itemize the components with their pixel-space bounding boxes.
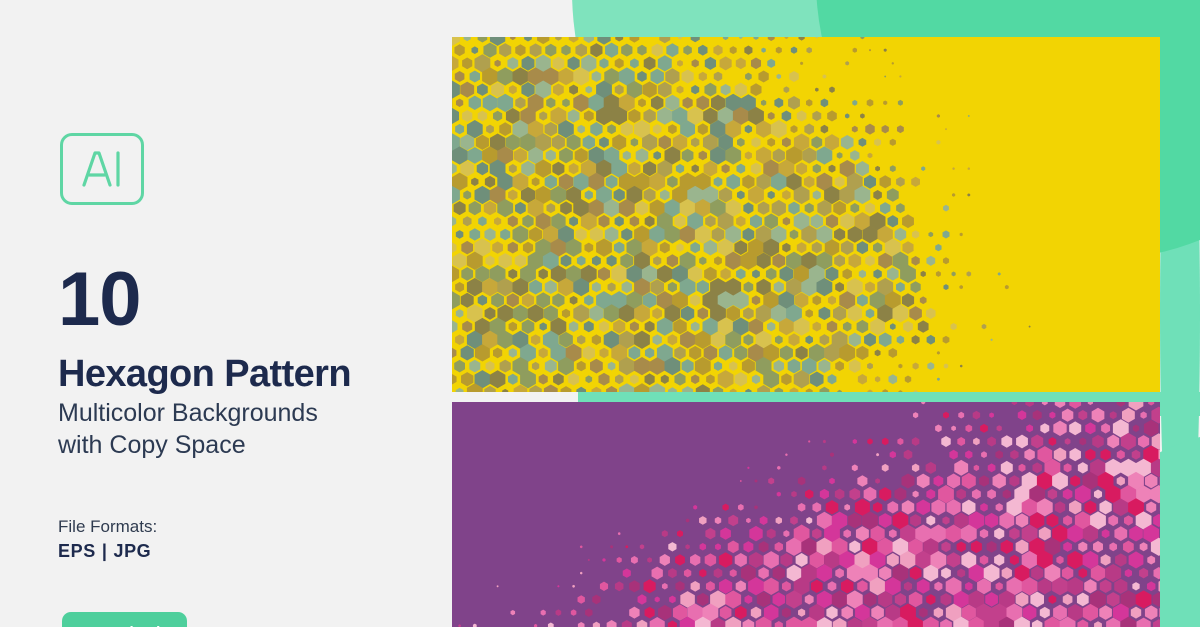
purple-hexagon-pattern	[452, 402, 1160, 627]
item-count: 10	[58, 262, 141, 338]
file-formats-label: File Formats:	[58, 517, 157, 537]
page-subtitle: Multicolor Backgrounds with Copy Space	[58, 398, 448, 461]
yellow-hexagon-pattern	[452, 37, 1160, 392]
preview-canvas: 10 Hexagon Pattern Multicolor Background…	[0, 0, 1200, 627]
file-formats-value: EPS|JPG	[58, 541, 151, 563]
info-panel: 10 Hexagon Pattern Multicolor Background…	[0, 0, 452, 627]
subtitle-line-1: Multicolor Backgrounds	[58, 398, 448, 430]
subtitle-line-2: with Copy Space	[58, 430, 448, 462]
purple-hexagon-preview[interactable]	[452, 402, 1160, 627]
green-band-decoration	[1160, 0, 1200, 627]
adobe-illustrator-badge-icon	[60, 133, 144, 205]
page-title: Hexagon Pattern	[58, 355, 351, 393]
format-separator: |	[96, 541, 114, 561]
yellow-hexagon-preview[interactable]	[452, 37, 1160, 392]
ai-letters-icon	[78, 147, 126, 191]
format-eps: EPS	[58, 541, 96, 561]
download-button[interactable]: Download	[62, 612, 187, 627]
format-jpg: JPG	[113, 541, 151, 561]
